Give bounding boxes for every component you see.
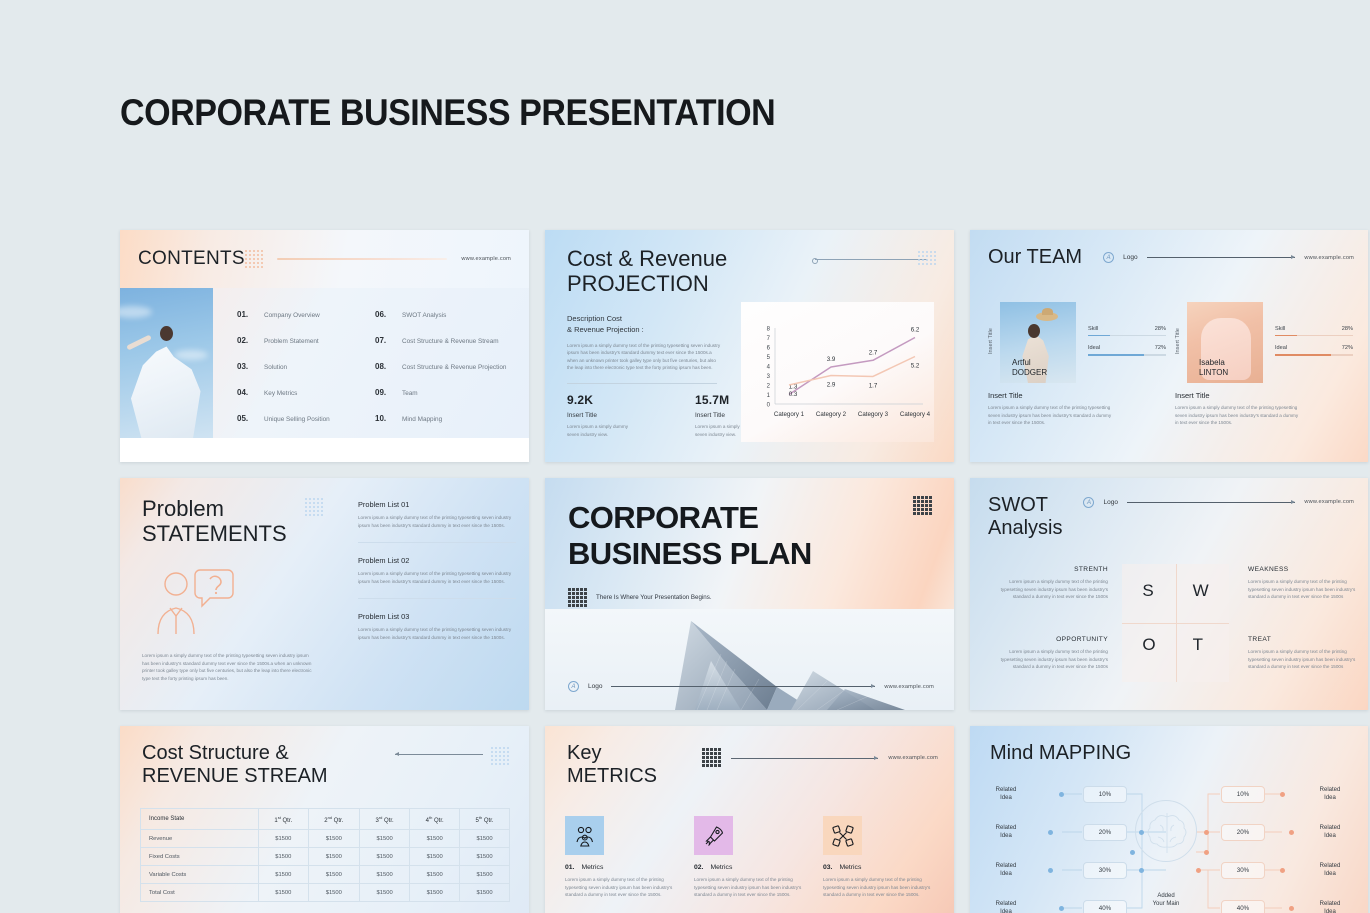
row-label: Total Cost (141, 884, 259, 902)
list-item[interactable]: Problem List 03 Lorem ipsum a simply dum… (358, 612, 516, 654)
member-name: Artful DODGER (1012, 358, 1047, 378)
node-label: Related Idea (976, 900, 1036, 913)
table-cell: $1500 (460, 848, 510, 866)
item-label: Company Overview (264, 310, 320, 320)
metric-number: 01. (565, 864, 574, 871)
node-percent[interactable]: 10% (1083, 786, 1127, 803)
svg-text:5.2: 5.2 (911, 363, 920, 370)
network-icon (823, 816, 862, 855)
svg-text:Category 2: Category 2 (816, 411, 847, 418)
contents-title: CONTENTS (138, 248, 245, 270)
list-item[interactable]: 08. Cost Structure & Revenue Projection (375, 362, 513, 372)
svg-text:Category 1: Category 1 (774, 411, 805, 418)
item-label: Team (402, 388, 418, 398)
item-number: 03. (237, 362, 254, 371)
item-number: 10. (375, 414, 392, 423)
title-line-2: METRICS (567, 765, 657, 788)
table-cell: $1500 (259, 830, 309, 848)
cell-body: Lorem ipsum a simply dummy text of the p… (1248, 648, 1362, 671)
website-label: www.example.com (884, 684, 934, 690)
slide-key-metrics[interactable]: Key METRICS www.example.com (545, 726, 954, 913)
item-label: SWOT Analysis (402, 310, 446, 320)
problem-body: Lorem ipsum a simply dummy text of the p… (358, 570, 516, 585)
svg-text:6.2: 6.2 (911, 327, 920, 334)
item-number: 01. (237, 310, 254, 319)
title-line-1: Problem (142, 496, 287, 521)
item-number: 09. (375, 388, 392, 397)
title-line-1: CORPORATE (568, 500, 758, 535)
slides-row-3: Cost Structure & REVENUE STREAM Income S… (120, 726, 1370, 913)
member-last-name: LINTON (1199, 368, 1228, 377)
list-item[interactable]: 04. Key Metrics (237, 388, 375, 398)
swot-cell-strength: STRENTH Lorem ipsum a simply dummy text … (994, 566, 1108, 601)
slides-row-1: CONTENTS www.example.com (120, 230, 1370, 462)
metrics-cards: 01. Metrics Lorem ipsum a simply dummy t… (565, 816, 938, 899)
member-sub-title: Insert Title (1175, 391, 1353, 400)
contents-photo (120, 288, 213, 438)
website-label: www.example.com (461, 256, 511, 262)
slide-title: Problem STATEMENTS (142, 496, 287, 547)
node-label: Related Idea (976, 862, 1036, 878)
table-row: Variable Costs$1500$1500$1500$1500$1500 (141, 866, 510, 884)
svg-text:4: 4 (767, 364, 771, 370)
stats-divider (567, 383, 717, 384)
column-header: 2nd Qtr. (308, 809, 359, 830)
table-cell: $1500 (259, 884, 309, 902)
metric-card[interactable]: 02. Metrics Lorem ipsum a simply dummy t… (694, 816, 809, 899)
svg-text:6: 6 (767, 345, 771, 351)
table-cell: $1500 (360, 866, 410, 884)
metric-label: Metrics (710, 864, 732, 871)
dot-grid-icon (918, 251, 936, 265)
item-number: 05. (237, 414, 254, 423)
cost-structure-table: Income State 1st Qtr. 2nd Qtr. 3rd Qtr. … (140, 808, 510, 902)
item-label: Key Metrics (264, 388, 297, 398)
item-number: 06. (375, 310, 392, 319)
title-line-2: BUSINESS PLAN (568, 536, 812, 571)
problem-list: Problem List 01 Lorem ipsum a simply dum… (358, 500, 516, 667)
table-cell: $1500 (308, 866, 359, 884)
node-label: Related Idea (976, 824, 1036, 840)
page-title: CORPORATE BUSINESS PRESENTATION (120, 92, 775, 134)
slide-cost-structure[interactable]: Cost Structure & REVENUE STREAM Income S… (120, 726, 529, 913)
member-sub-body: Lorem ipsum a simply dummy text of the p… (1175, 404, 1303, 427)
svg-text:0.3: 0.3 (789, 391, 798, 398)
table-header-row: Income State 1st Qtr. 2nd Qtr. 3rd Qtr. … (141, 809, 510, 830)
skill-bar (1275, 354, 1353, 356)
metric-body: Lorem ipsum a simply dummy text of the p… (823, 876, 938, 899)
item-label: Mind Mapping (402, 414, 442, 424)
table-cell: $1500 (410, 830, 460, 848)
member-first-name: Artful (1012, 358, 1031, 367)
table-cell: $1500 (410, 884, 460, 902)
column-header: 5th Qtr. (460, 809, 510, 830)
mind-map-main-label: Added Your Main (1130, 892, 1202, 908)
item-number: 07. (375, 336, 392, 345)
cover-footer: A Logo www.example.com (568, 681, 934, 692)
contents-footer-strip (120, 438, 529, 462)
title-line-2: PROJECTION (567, 271, 727, 296)
stat-caption: Insert Title (567, 412, 641, 419)
cell-heading: TREAT (1248, 636, 1362, 643)
logo-label: Logo (1123, 254, 1137, 261)
description-block: Description Cost & Revenue Projection : … (567, 314, 722, 372)
item-label: Unique Selling Position (264, 414, 330, 424)
mind-map: Added Your Main Related Idea Related Ide… (970, 774, 1368, 913)
svg-text:3.9: 3.9 (827, 356, 836, 363)
list-item[interactable]: 07. Cost Structure & Revenue Stream (375, 336, 513, 346)
member-top: Insert Title Isabela LINTON Skill (1175, 302, 1353, 383)
problem-heading: Problem List 01 (358, 500, 516, 509)
slide-our-team[interactable]: Our TEAM A Logo www.example.com Insert T… (970, 230, 1368, 462)
table-cell: $1500 (360, 848, 410, 866)
metric-number: 02. (694, 864, 703, 871)
header-arrow (1147, 257, 1296, 258)
table-row: Total Cost$1500$1500$1500$1500$1500 (141, 884, 510, 902)
problem-footer-text: Lorem ipsum a simply dummy text of the p… (142, 652, 312, 682)
cell-heading: STRENTH (994, 566, 1108, 573)
skill-bar (1088, 335, 1166, 337)
svg-text:2: 2 (767, 383, 771, 389)
svg-text:Category 4: Category 4 (900, 411, 931, 418)
cell-body: Lorem ipsum a simply dummy text of the p… (1248, 578, 1362, 601)
header-arrow (731, 758, 878, 759)
list-item[interactable]: 03. Solution (237, 362, 375, 372)
dot-grid-icon (305, 498, 323, 516)
member-sub-title: Insert Title (988, 391, 1166, 400)
rocket-icon (694, 816, 733, 855)
metric-card[interactable]: 01. Metrics Lorem ipsum a simply dummy t… (565, 816, 680, 899)
item-label: Cost Structure & Revenue Projection (402, 362, 506, 372)
column-header: 1st Qtr. (259, 809, 309, 830)
metric-label-row: 01. Metrics (565, 864, 680, 871)
node-percent[interactable]: 30% (1083, 862, 1127, 879)
column-header: 3rd Qtr. (360, 809, 410, 830)
dot-grid-icon (568, 588, 587, 607)
problem-body: Lorem ipsum a simply dummy text of the p… (358, 626, 516, 641)
title-line-2: STATEMENTS (142, 521, 287, 546)
dot-grid-icon (491, 747, 509, 765)
contents-body: 01. Company Overview 02. Problem Stateme… (120, 288, 529, 438)
skill-row: Skill 28% (1275, 326, 1353, 336)
metric-number: 03. (823, 864, 832, 871)
member-name: Isabela LINTON (1199, 358, 1228, 378)
node-percent[interactable]: 20% (1083, 824, 1127, 841)
slide-title: Cost & Revenue PROJECTION (567, 246, 727, 296)
skill-bar (1088, 354, 1166, 356)
skill-bar (1275, 335, 1353, 337)
member-top: Insert Title Artful DODGER (988, 302, 1166, 383)
contents-list: 01. Company Overview 02. Problem Stateme… (213, 288, 529, 438)
slide-title: SWOT Analysis (988, 494, 1062, 540)
table-cell: $1500 (259, 848, 309, 866)
cell-body: Lorem ipsum a simply dummy text of the p… (994, 578, 1108, 601)
member-sub-body: Lorem ipsum a simply dummy text of the p… (988, 404, 1116, 427)
node-label: Related Idea (1300, 862, 1360, 878)
problem-heading: Problem List 02 (358, 556, 516, 565)
svg-text:8: 8 (767, 326, 771, 332)
team-member[interactable]: Insert Title Artful DODGER (988, 302, 1166, 427)
item-label: Cost Structure & Revenue Stream (402, 336, 499, 346)
presentation-preview: CORPORATE BUSINESS PRESENTATION CONTENTS… (0, 0, 1370, 913)
swot-letter-t: T (1193, 635, 1203, 655)
member-last-name: DODGER (1012, 368, 1047, 377)
list-item[interactable]: 01. Company Overview (237, 310, 375, 320)
item-number: 02. (237, 336, 254, 345)
stats-row: 9.2K Insert Title Lorem ipsum a simply d… (567, 393, 769, 438)
table-cell: $1500 (259, 866, 309, 884)
header-arrow (1127, 502, 1295, 503)
swot-header: SWOT Analysis A Logo www.example.com (988, 494, 1354, 540)
table-cell: $1500 (308, 884, 359, 902)
svg-text:2.7: 2.7 (869, 349, 878, 356)
team-icon (565, 816, 604, 855)
cover-subtitle: There Is Where Your Presentation Begins. (596, 594, 712, 601)
slides-grid: CONTENTS www.example.com (120, 230, 1370, 913)
logo-label: Logo (588, 683, 602, 690)
member-vertical-label: Insert Title (1175, 302, 1181, 358)
cell-heading: WEAKNESS (1248, 566, 1362, 573)
title-line-1: Key (567, 742, 657, 765)
slide-title: Our TEAM (988, 246, 1082, 269)
member-first-name: Isabela (1199, 358, 1225, 367)
problem-heading: Problem List 03 (358, 612, 516, 621)
swot-letter-s: S (1142, 581, 1153, 601)
logo-label: Logo (1103, 499, 1117, 506)
list-item[interactable]: 05. Unique Selling Position (237, 414, 375, 424)
svg-text:2.9: 2.9 (827, 382, 836, 389)
metric-card[interactable]: 03. Metrics Lorem ipsum a simply dummy t… (823, 816, 938, 899)
swot-letter-o: O (1142, 635, 1155, 655)
metric-body: Lorem ipsum a simply dummy text of the p… (565, 876, 680, 899)
website-label: www.example.com (888, 755, 938, 761)
dot-grid-icon (245, 250, 263, 268)
member-skills: Skill 28% Ideal 72% (1088, 302, 1166, 365)
slide-contents[interactable]: CONTENTS www.example.com (120, 230, 529, 462)
swot-quadrant: S W O T (1122, 564, 1229, 682)
website-label: www.example.com (1304, 499, 1354, 505)
contents-header: CONTENTS www.example.com (120, 230, 529, 288)
skill-row: Skill 28% (1088, 326, 1166, 336)
metric-label-row: 02. Metrics (694, 864, 809, 871)
item-number: 08. (375, 362, 392, 371)
brain-icon (1135, 800, 1197, 862)
slide-swot-analysis[interactable]: SWOT Analysis A Logo www.example.com S W… (970, 478, 1368, 710)
website-label: www.example.com (1304, 255, 1354, 261)
slide-title: Mind MAPPING (990, 742, 1131, 765)
metric-label-row: 03. Metrics (823, 864, 938, 871)
skill-value: 72% (1342, 345, 1353, 351)
title-line-2: REVENUE STREAM (142, 765, 328, 788)
skill-row: Ideal 72% (1088, 345, 1166, 355)
problem-body: Lorem ipsum a simply dummy text of the p… (358, 514, 516, 529)
contents-column-left: 01. Company Overview 02. Problem Stateme… (237, 302, 375, 438)
metric-body: Lorem ipsum a simply dummy text of the p… (694, 876, 809, 899)
svg-text:7: 7 (767, 336, 771, 342)
item-label: Solution (264, 362, 287, 372)
slide-problem-statements[interactable]: Problem STATEMENTS (120, 478, 529, 710)
skill-label: Skill (1275, 326, 1285, 332)
table-cell: $1500 (360, 830, 410, 848)
description-heading: Description Cost & Revenue Projection : (567, 314, 722, 336)
line-chart[interactable]: 8765432101.33.92.76.20.32.91.75.2Categor… (741, 302, 934, 442)
member-sub: Insert Title Lorem ipsum a simply dummy … (988, 391, 1166, 427)
list-item[interactable]: 06. SWOT Analysis (375, 310, 513, 320)
member-vertical-label: Insert Title (988, 302, 994, 358)
slide-mind-mapping[interactable]: Mind MAPPING (970, 726, 1368, 913)
svg-text:1.7: 1.7 (869, 382, 878, 389)
swot-letter-w: W (1193, 581, 1209, 601)
header-rule (815, 259, 927, 260)
title-line-2: Analysis (988, 517, 1062, 539)
table-row: Fixed Costs$1500$1500$1500$1500$1500 (141, 848, 510, 866)
cover-title: CORPORATE BUSINESS PLAN (568, 500, 812, 572)
header-divider (277, 258, 447, 260)
node-percent[interactable]: 10% (1221, 786, 1265, 803)
svg-text:1: 1 (767, 393, 771, 399)
title-line-1: SWOT (988, 494, 1048, 516)
team-header: Our TEAM A Logo www.example.com (988, 246, 1354, 269)
slides-row-2: Problem STATEMENTS (120, 478, 1370, 710)
list-item[interactable]: 10. Mind Mapping (375, 414, 513, 424)
skill-label: Ideal (1275, 345, 1287, 351)
cell-heading: OPPORTUNITY (994, 636, 1108, 643)
table-cell: $1500 (460, 830, 510, 848)
node-percent[interactable]: 40% (1221, 900, 1265, 913)
row-label: Variable Costs (141, 866, 259, 884)
svg-text:5: 5 (767, 355, 771, 361)
skill-value: 28% (1155, 326, 1166, 332)
person-question-icon (148, 562, 236, 640)
team-member[interactable]: Insert Title Isabela LINTON Skill (1175, 302, 1353, 427)
title-line-1: Cost Structure & (142, 742, 328, 765)
svg-text:3: 3 (767, 374, 771, 380)
member-sub: Insert Title Lorem ipsum a simply dummy … (1175, 391, 1353, 427)
contents-column-right: 06. SWOT Analysis 07. Cost Structure & R… (375, 302, 513, 438)
footer-arrow (611, 686, 875, 687)
svg-text:Category 3: Category 3 (858, 411, 889, 418)
dot-grid-icon (913, 496, 932, 515)
metric-label: Metrics (581, 864, 603, 871)
table-cell: $1500 (460, 884, 510, 902)
table-row: Revenue$1500$1500$1500$1500$1500 (141, 830, 510, 848)
row-label: Fixed Costs (141, 848, 259, 866)
node-percent[interactable]: 40% (1083, 900, 1127, 913)
item-label: Problem Statement (264, 336, 319, 346)
cover-subtitle-row: There Is Where Your Presentation Begins. (568, 588, 712, 607)
stat-description: Lorem ipsum a simply dummy seven industr… (567, 423, 641, 438)
cell-body: Lorem ipsum a simply dummy text of the p… (994, 648, 1108, 671)
slide-cost-revenue-projection[interactable]: Cost & Revenue PROJECTION Description Co… (545, 230, 954, 462)
header-arrow-left (395, 754, 483, 755)
list-item[interactable]: 02. Problem Statement (237, 336, 375, 346)
column-header: 4th Qtr. (410, 809, 460, 830)
line-chart-svg: 8765432101.33.92.76.20.32.91.75.2Categor… (741, 302, 934, 442)
table-cell: $1500 (410, 866, 460, 884)
skill-value: 72% (1155, 345, 1166, 351)
column-header: Income State (141, 809, 259, 830)
node-label: Related Idea (976, 786, 1036, 802)
skill-value: 28% (1342, 326, 1353, 332)
swot-cell-treat: TREAT Lorem ipsum a simply dummy text of… (1248, 636, 1362, 671)
node-label: Related Idea (1300, 900, 1360, 913)
skill-label: Skill (1088, 326, 1098, 332)
list-item[interactable]: Problem List 01 Lorem ipsum a simply dum… (358, 500, 516, 543)
node-label: Related Idea (1300, 824, 1360, 840)
swot-cell-opportunity: OPPORTUNITY Lorem ipsum a simply dummy t… (994, 636, 1108, 671)
cover-image (545, 609, 954, 710)
logo-icon: A (1083, 497, 1094, 508)
metrics-header: www.example.com (731, 755, 938, 761)
skill-label: Ideal (1088, 345, 1100, 351)
slide-title: Key METRICS (567, 742, 657, 788)
list-item[interactable]: 09. Team (375, 388, 513, 398)
stat-block: 9.2K Insert Title Lorem ipsum a simply d… (567, 393, 641, 438)
logo-icon: A (568, 681, 579, 692)
slide-cover[interactable]: CORPORATE BUSINESS PLAN There Is Where Y… (545, 478, 954, 710)
node-percent[interactable]: 20% (1221, 824, 1265, 841)
svg-text:0: 0 (767, 402, 771, 408)
dot-grid-icon (702, 748, 721, 767)
slide-title: Cost Structure & REVENUE STREAM (142, 742, 328, 788)
row-label: Revenue (141, 830, 259, 848)
node-label: Related Idea (1300, 786, 1360, 802)
item-number: 04. (237, 388, 254, 397)
table-cell: $1500 (308, 830, 359, 848)
table-cell: $1500 (410, 848, 460, 866)
table-cell: $1500 (460, 866, 510, 884)
node-percent[interactable]: 30% (1221, 862, 1265, 879)
skill-row: Ideal 72% (1275, 345, 1353, 355)
member-skills: Skill 28% Ideal 72% (1275, 302, 1353, 365)
logo-icon: A (1103, 252, 1114, 263)
table-cell: $1500 (308, 848, 359, 866)
list-item[interactable]: Problem List 02 Lorem ipsum a simply dum… (358, 556, 516, 599)
description-body: Lorem ipsum a simply dummy text of the p… (567, 342, 722, 372)
title-line-1: Cost & Revenue (567, 246, 727, 271)
swot-cell-weakness: WEAKNESS Lorem ipsum a simply dummy text… (1248, 566, 1362, 601)
stat-value: 9.2K (567, 393, 641, 407)
table-cell: $1500 (360, 884, 410, 902)
metric-label: Metrics (839, 864, 861, 871)
